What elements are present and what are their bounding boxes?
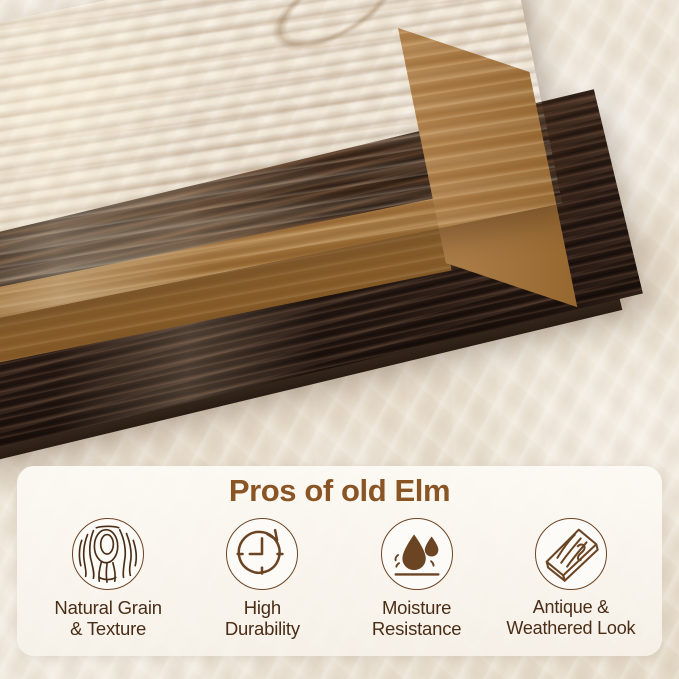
- panel-title: Pros of old Elm: [17, 473, 662, 509]
- product-infographic: Pros of old Elm: [0, 0, 679, 679]
- feature-label: Antique & Weathered Look: [506, 597, 635, 638]
- clock-rotate-icon: [226, 518, 298, 590]
- feature-natural-grain[interactable]: Natural Grain & Texture: [31, 518, 185, 639]
- feature-label: Moisture Resistance: [372, 597, 462, 639]
- wood-grain-icon: [72, 518, 144, 590]
- feature-moisture-resistance[interactable]: Moisture Resistance: [340, 518, 494, 639]
- feature-antique-weathered-look[interactable]: Antique & Weathered Look: [494, 518, 648, 639]
- feature-label: High Durability: [225, 597, 300, 639]
- water-drop-icon: [381, 518, 453, 590]
- wood-plank-icon: [535, 518, 607, 590]
- feature-list: Natural Grain & Texture: [17, 518, 662, 639]
- pros-panel: Pros of old Elm: [17, 466, 662, 656]
- feature-label: Natural Grain & Texture: [54, 597, 161, 639]
- feature-high-durability[interactable]: High Durability: [185, 518, 339, 639]
